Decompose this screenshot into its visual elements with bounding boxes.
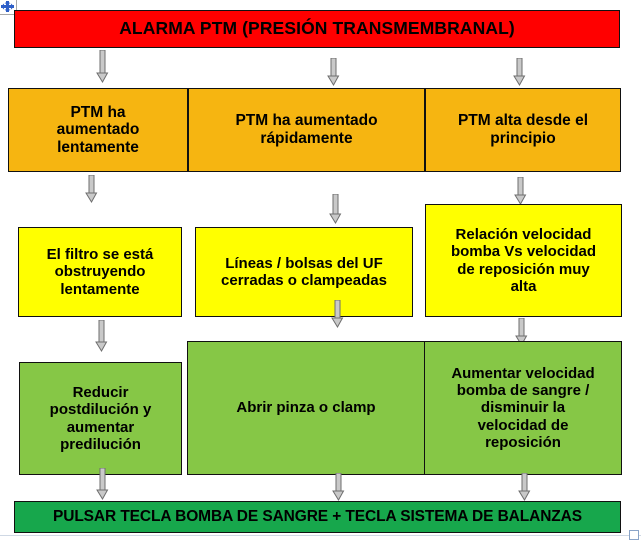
arrow-down-icon-filtro-to-reducir — [95, 320, 108, 352]
arrow-down-icon-header-to-alta — [513, 58, 526, 86]
node-ptm-alta-desde-el-principio[interactable]: PTM alta desde el principio — [425, 88, 621, 172]
arrow-down-icon-pinza-to-footer — [332, 473, 345, 501]
node-relacion-velocidad-bomba[interactable]: Relación velocidad bomba Vs velocidad de… — [425, 204, 622, 317]
arrow-down-icon-lineas-to-pinza — [331, 300, 344, 328]
node-ptm-aumentado-lentamente[interactable]: PTM ha aumentado lentamente — [8, 88, 188, 172]
arrow-down-icon-header-to-lento — [96, 50, 109, 83]
arrow-down-icon-header-to-rapido — [327, 58, 340, 86]
node-aumentar-velocidad-bomba[interactable]: Aumentar velocidad bomba de sangre / dis… — [424, 341, 622, 475]
arrow-down-icon-lento-to-filtro — [85, 175, 98, 203]
node-lineas-bolsas-uf-cerradas[interactable]: Líneas / bolsas del UF cerradas o clampe… — [195, 227, 413, 317]
node-ptm-aumentado-rapidamente[interactable]: PTM ha aumentado rápidamente — [188, 88, 425, 172]
footer-action-bar: PULSAR TECLA BOMBA DE SANGRE + TECLA SIS… — [14, 501, 621, 533]
node-filtro-obstruyendo[interactable]: El filtro se está obstruyendo lentamente — [18, 227, 182, 317]
arrow-down-icon-reducir-to-footer — [96, 468, 109, 500]
alarm-title-bar: ALARMA PTM (PRESIÓN TRANSMEMBRANAL) — [14, 10, 620, 48]
node-abrir-pinza-o-clamp[interactable]: Abrir pinza o clamp — [187, 341, 425, 475]
bottom-divider — [0, 535, 641, 536]
arrow-down-icon-rapido-to-lineas — [329, 194, 342, 224]
arrow-down-icon-alta-to-relacion — [514, 177, 527, 205]
resize-nub-icon[interactable] — [629, 530, 639, 540]
node-reducir-postdilucion[interactable]: Reducir postdilución y aumentar prediluc… — [19, 362, 182, 475]
flowchart-canvas: ALARMA PTM (PRESIÓN TRANSMEMBRANAL) PTM … — [0, 0, 641, 541]
arrow-down-icon-aumentar-to-footer — [518, 473, 531, 501]
